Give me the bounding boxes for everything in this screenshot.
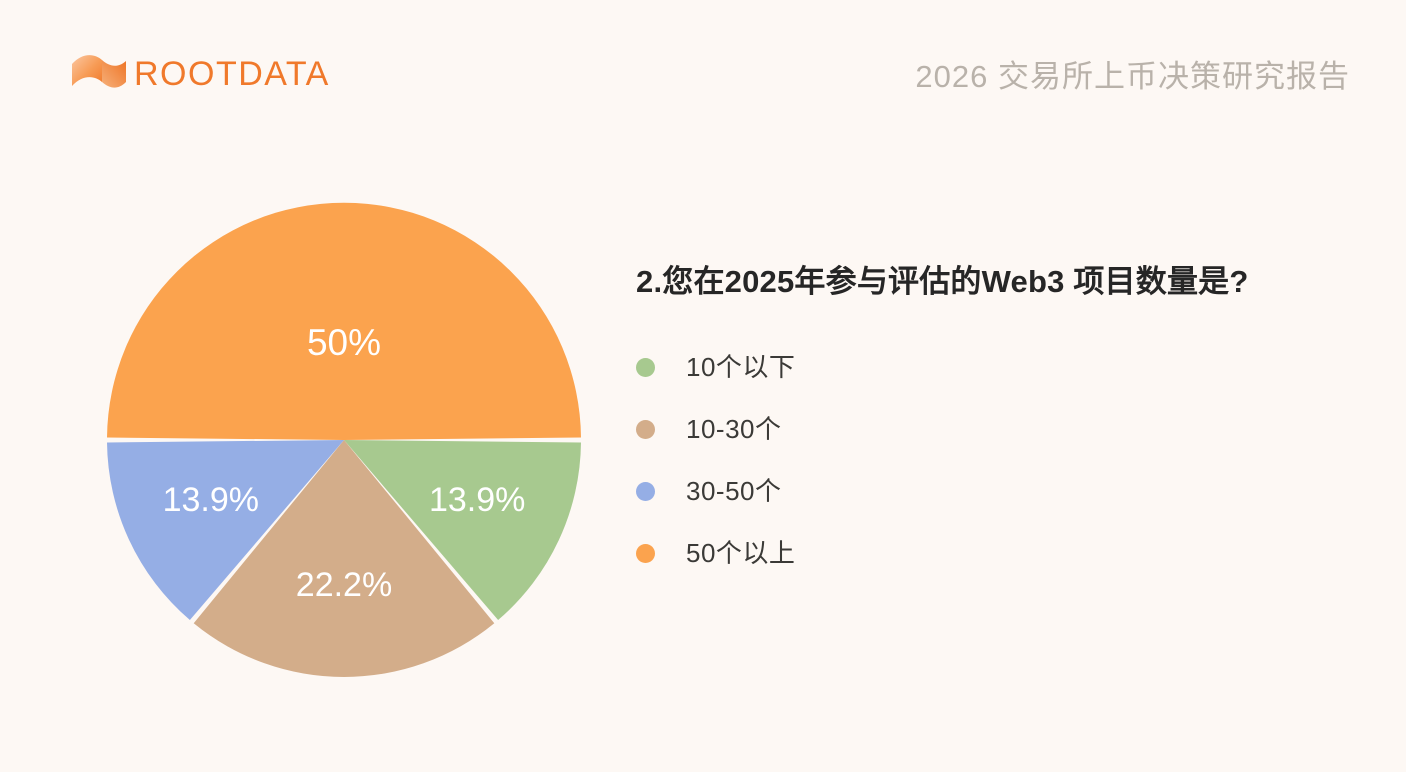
legend-color-dot-icon [636,420,655,439]
legend-color-dot-icon [636,482,655,501]
question-panel: 2.您在2025年参与评估的Web3 项目数量是? 10个以下10-30个30-… [636,262,1366,584]
chart-legend: 10个以下10-30个30-50个50个以上 [636,336,1366,584]
legend-color-dot-icon [636,544,655,563]
pie-chart: 13.9%22.2%13.9%50% [104,200,584,680]
rootdata-ribbon-logo-icon [70,51,128,97]
rootdata-logo[interactable]: ROOTDATA [70,50,330,98]
question-title: 2.您在2025年参与评估的Web3 项目数量是? [636,262,1366,302]
pie-slice-label: 50% [307,322,381,363]
legend-color-dot-icon [636,358,655,377]
report-title: 2026 交易所上币决策研究报告 [915,58,1350,95]
legend-item-label: 30-50个 [686,478,782,504]
legend-item-label: 10个以下 [686,354,795,380]
legend-item[interactable]: 30-50个 [636,460,1366,522]
legend-item[interactable]: 50个以上 [636,522,1366,584]
pie-slice-label: 22.2% [296,566,392,604]
pie-slice-label: 13.9% [163,481,259,519]
logo-wordmark: ROOTDATA [134,57,330,91]
legend-item-label: 10-30个 [686,416,782,442]
legend-item[interactable]: 10个以下 [636,336,1366,398]
legend-item-label: 50个以上 [686,540,795,566]
legend-item[interactable]: 10-30个 [636,398,1366,460]
pie-slice-label: 13.9% [429,481,525,519]
pie-slices [107,203,581,677]
pie-chart-svg: 13.9%22.2%13.9%50% [104,200,584,680]
page-header: ROOTDATA 2026 交易所上币决策研究报告 [0,0,1406,140]
